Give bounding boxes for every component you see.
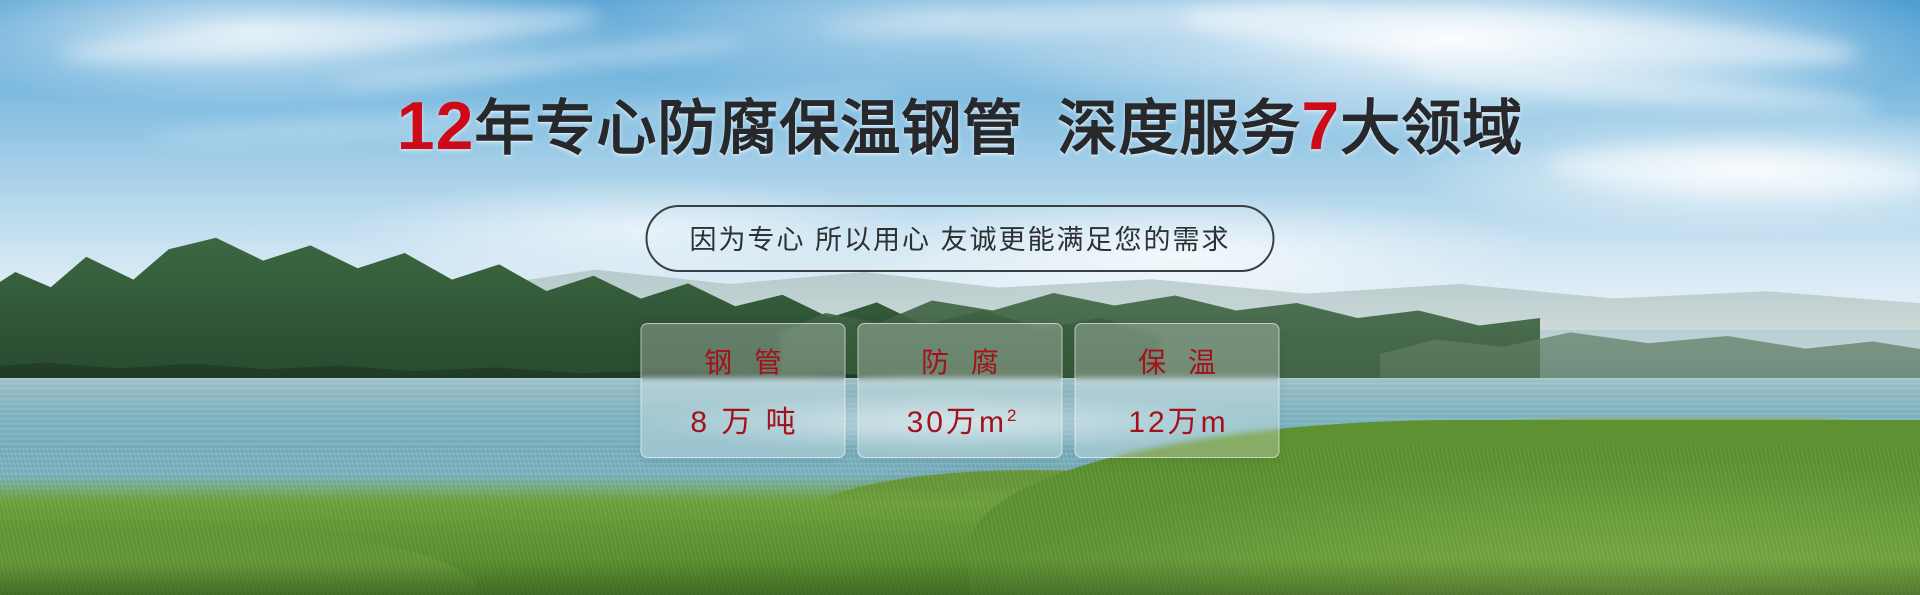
hero-banner: 12年专心防腐保温钢管深度服务7大领域 因为专心 所以用心 友诚更能满足您的需求… <box>0 0 1920 595</box>
headline-fields-text: 大领域 <box>1340 95 1523 162</box>
headline-main-text: 年专心防腐保温钢管 <box>474 95 1023 162</box>
banner-headline: 12年专心防腐保温钢管深度服务7大领域 <box>0 92 1920 160</box>
stat-card-value-exponent: 2 <box>1007 406 1016 425</box>
banner-subtitle-pill: 因为专心 所以用心 友诚更能满足您的需求 <box>645 205 1274 272</box>
stat-card-title: 防 腐 <box>914 341 1006 381</box>
stat-card-value: 12万m <box>1125 397 1228 441</box>
stats-card-group: 钢 管 8 万 吨 防 腐 30万m2 保 温 12万m <box>641 323 1280 458</box>
stat-card-anticorrosion[interactable]: 防 腐 30万m2 <box>858 323 1063 458</box>
stat-card-value: 8 万 吨 <box>687 397 798 441</box>
stat-card-value-text: 12万m <box>1128 406 1228 439</box>
banner-content: 12年专心防腐保温钢管深度服务7大领域 因为专心 所以用心 友诚更能满足您的需求… <box>0 0 1920 595</box>
headline-fields-number: 7 <box>1301 88 1340 164</box>
stat-card-steel-pipe[interactable]: 钢 管 8 万 吨 <box>641 323 846 458</box>
stat-card-value-text: 30万m <box>907 406 1007 439</box>
headline-years-number: 12 <box>397 88 475 164</box>
stat-card-value-text: 8 万 吨 <box>690 406 798 439</box>
stat-card-insulation[interactable]: 保 温 12万m <box>1075 323 1280 458</box>
stat-card-title: 保 温 <box>1131 341 1223 381</box>
stat-card-title: 钢 管 <box>697 341 789 381</box>
headline-service-text: 深度服务 <box>1057 95 1301 162</box>
stat-card-value: 30万m2 <box>904 397 1017 441</box>
